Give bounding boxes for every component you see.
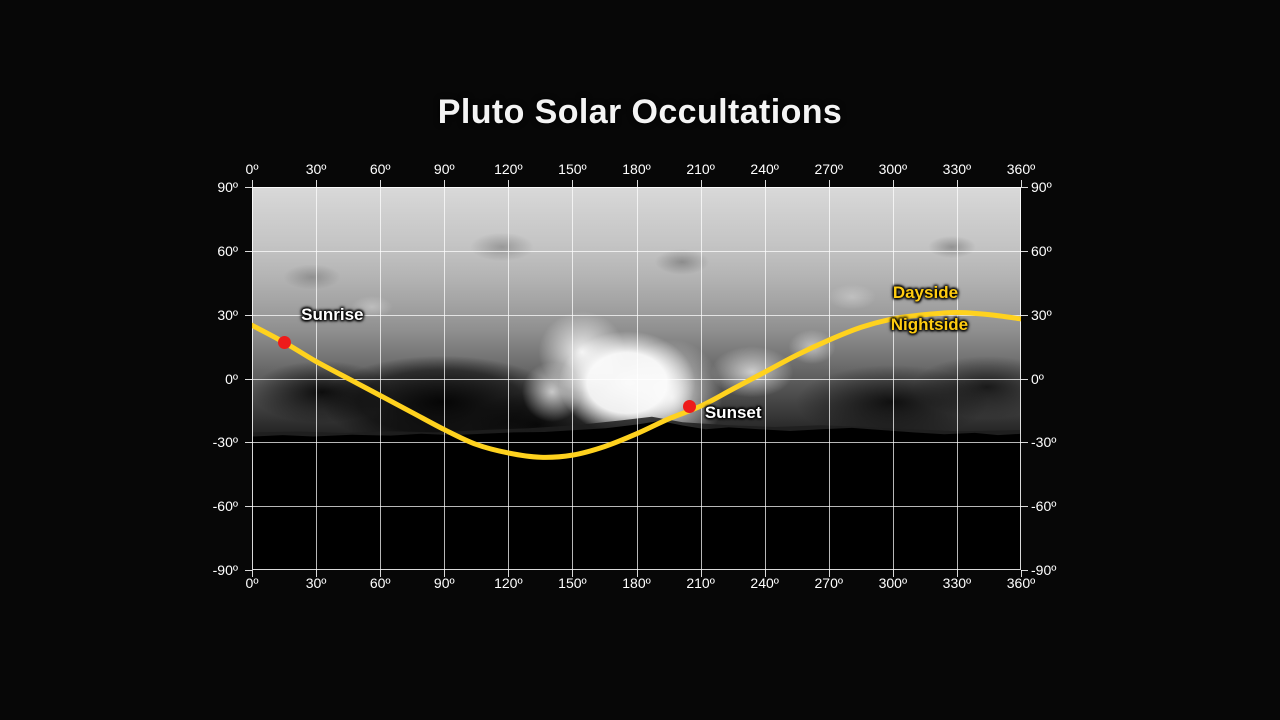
y-tick-label-right: 0º [1031,371,1044,387]
axis-tick [245,251,252,252]
dayside-label: Dayside [893,283,958,303]
axis-tick [1021,187,1028,188]
axis-tick [316,570,317,577]
y-tick-label-left: -30º [186,434,238,450]
axis-tick [508,180,509,187]
x-tick-label-top: 90º [434,161,455,177]
y-tick-label-right: 60º [1031,243,1052,259]
y-tick-label-left: -60º [186,498,238,514]
axis-tick [765,180,766,187]
axis-tick [701,570,702,577]
axis-tick [829,180,830,187]
axis-tick [380,570,381,577]
x-tick-label-bottom: 120º [494,575,522,591]
axis-tick [1021,315,1028,316]
x-tick-label-top: 240º [750,161,778,177]
y-tick-label-right: -90º [1031,562,1056,578]
axis-tick [572,570,573,577]
axis-tick [245,442,252,443]
x-tick-label-top: 60º [370,161,391,177]
x-tick-label-bottom: 150º [558,575,586,591]
sunrise-marker[interactable] [278,336,291,349]
sunset-marker[interactable] [683,400,696,413]
chart-canvas: Pluto Solar Occultations Sunrise Sunset … [0,0,1280,720]
axis-tick [1021,570,1022,577]
axis-tick [1021,442,1028,443]
x-tick-label-top: 30º [306,161,327,177]
x-tick-label-bottom: 60º [370,575,391,591]
axis-tick [316,180,317,187]
terminator-svg [252,187,1021,570]
y-tick-label-right: -30º [1031,434,1056,450]
nightside-label: Nightside [891,315,968,335]
y-tick-label-right: 30º [1031,307,1052,323]
x-tick-label-top: 210º [686,161,714,177]
axis-tick [829,570,830,577]
x-tick-label-bottom: 90º [434,575,455,591]
x-tick-label-top: 360º [1007,161,1035,177]
y-tick-label-left: 60º [186,243,238,259]
x-tick-label-top: 330º [943,161,971,177]
y-tick-label-left: -90º [186,562,238,578]
axis-tick [245,187,252,188]
x-tick-label-top: 300º [879,161,907,177]
axis-tick [701,180,702,187]
axis-tick [245,506,252,507]
x-tick-label-bottom: 30º [306,575,327,591]
axis-tick [508,570,509,577]
x-tick-label-bottom: 210º [686,575,714,591]
axis-tick [245,315,252,316]
x-tick-label-top: 0º [246,161,259,177]
x-tick-label-top: 150º [558,161,586,177]
axis-tick [893,180,894,187]
axis-tick [1021,251,1028,252]
terminator-curve-layer [252,187,1021,570]
x-tick-label-bottom: 300º [879,575,907,591]
x-tick-label-bottom: 180º [622,575,650,591]
axis-tick [957,570,958,577]
axis-tick [1021,180,1022,187]
axis-tick [1021,570,1028,571]
x-tick-label-bottom: 330º [943,575,971,591]
axis-tick [637,180,638,187]
plot-area: Sunrise Sunset Dayside Nightside [252,187,1021,570]
axis-tick [252,180,253,187]
axis-tick [444,180,445,187]
x-tick-label-bottom: 240º [750,575,778,591]
axis-tick [957,180,958,187]
page-title: Pluto Solar Occultations [0,93,1280,132]
x-tick-label-top: 120º [494,161,522,177]
y-tick-label-left: 0º [186,371,238,387]
axis-tick [444,570,445,577]
axis-tick [245,379,252,380]
x-tick-label-top: 270º [815,161,843,177]
x-tick-label-bottom: 0º [246,575,259,591]
y-tick-label-right: 90º [1031,179,1052,195]
sunset-label: Sunset [705,403,762,423]
axis-tick [637,570,638,577]
axis-tick [252,570,253,577]
sunrise-label: Sunrise [301,305,363,325]
y-tick-label-right: -60º [1031,498,1056,514]
x-tick-label-bottom: 270º [815,575,843,591]
axis-tick [1021,506,1028,507]
axis-tick [245,570,252,571]
x-tick-label-top: 180º [622,161,650,177]
axis-tick [1021,379,1028,380]
y-tick-label-left: 30º [186,307,238,323]
axis-tick [380,180,381,187]
axis-tick [893,570,894,577]
y-tick-label-left: 90º [186,179,238,195]
axis-tick [765,570,766,577]
axis-tick [572,180,573,187]
